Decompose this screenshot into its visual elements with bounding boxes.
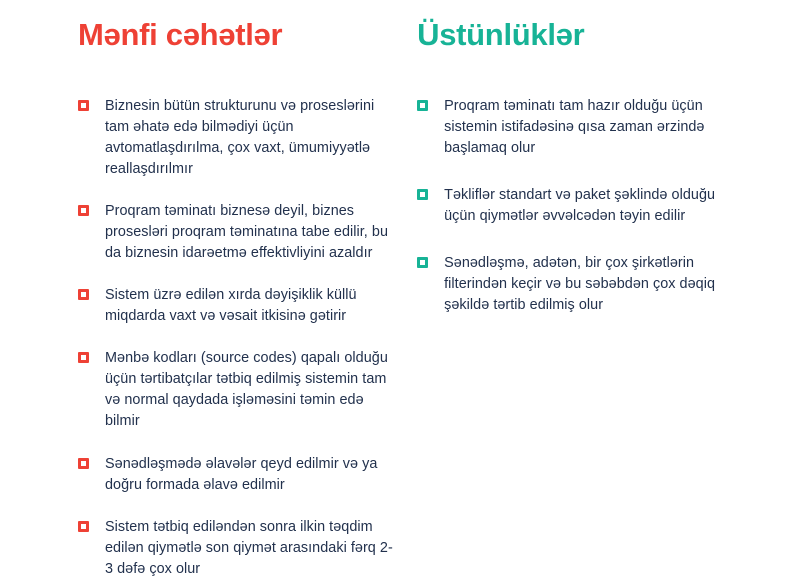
hollow-square-icon bbox=[417, 100, 428, 111]
list-item: Mənbə kodları (source codes) qapalı oldu… bbox=[78, 348, 393, 432]
list-item: Təkliflər standart və paket şəklində old… bbox=[417, 185, 770, 227]
column-advantages: Üstünlüklər Proqram təminatı tam hazır o… bbox=[401, 18, 780, 568]
list-item: Sistem tətbiq ediləndən sonra ilkin təqd… bbox=[78, 517, 393, 580]
comparison-slide: Mənfi cəhətlər Biznesin bütün strukturun… bbox=[0, 0, 800, 578]
hollow-square-icon bbox=[78, 352, 89, 363]
advantages-list: Proqram təminatı tam hazır olduğu üçün s… bbox=[417, 96, 770, 316]
list-item: Sənədləşmədə əlavələr qeyd edilmir və ya… bbox=[78, 454, 393, 496]
hollow-square-icon bbox=[78, 521, 89, 532]
list-item: Proqram təminatı biznesə deyil, biznes p… bbox=[78, 201, 393, 264]
list-item-text: Proqram təminatı tam hazır olduğu üçün s… bbox=[444, 96, 744, 159]
hollow-square-icon bbox=[78, 289, 89, 300]
list-item-text: Təkliflər standart və paket şəklində old… bbox=[444, 185, 744, 227]
hollow-square-icon bbox=[78, 100, 89, 111]
list-item: Sənədləşmə, adətən, bir çox şirkətlərin … bbox=[417, 253, 770, 316]
hollow-square-icon bbox=[417, 257, 428, 268]
list-item-text: Mənbə kodları (source codes) qapalı oldu… bbox=[105, 348, 393, 432]
list-item-text: Sənədləşmə, adətən, bir çox şirkətlərin … bbox=[444, 253, 744, 316]
hollow-square-icon bbox=[417, 189, 428, 200]
list-item-text: Sistem tətbiq ediləndən sonra ilkin təqd… bbox=[105, 517, 393, 580]
list-item-text: Proqram təminatı biznesə deyil, biznes p… bbox=[105, 201, 393, 264]
disadvantages-list: Biznesin bütün strukturunu və prosesləri… bbox=[78, 96, 393, 580]
list-item-text: Sistem üzrə edilən xırda dəyişiklik küll… bbox=[105, 285, 393, 327]
column-disadvantages: Mənfi cəhətlər Biznesin bütün strukturun… bbox=[20, 18, 401, 568]
heading-advantages: Üstünlüklər bbox=[417, 18, 770, 52]
hollow-square-icon bbox=[78, 458, 89, 469]
hollow-square-icon bbox=[78, 205, 89, 216]
list-item-text: Sənədləşmədə əlavələr qeyd edilmir və ya… bbox=[105, 454, 393, 496]
list-item: Sistem üzrə edilən xırda dəyişiklik küll… bbox=[78, 285, 393, 327]
list-item-text: Biznesin bütün strukturunu və prosesləri… bbox=[105, 96, 393, 180]
list-item: Proqram təminatı tam hazır olduğu üçün s… bbox=[417, 96, 770, 159]
heading-disadvantages: Mənfi cəhətlər bbox=[78, 18, 393, 52]
columns-container: Mənfi cəhətlər Biznesin bütün strukturun… bbox=[0, 0, 800, 578]
list-item: Biznesin bütün strukturunu və prosesləri… bbox=[78, 96, 393, 180]
